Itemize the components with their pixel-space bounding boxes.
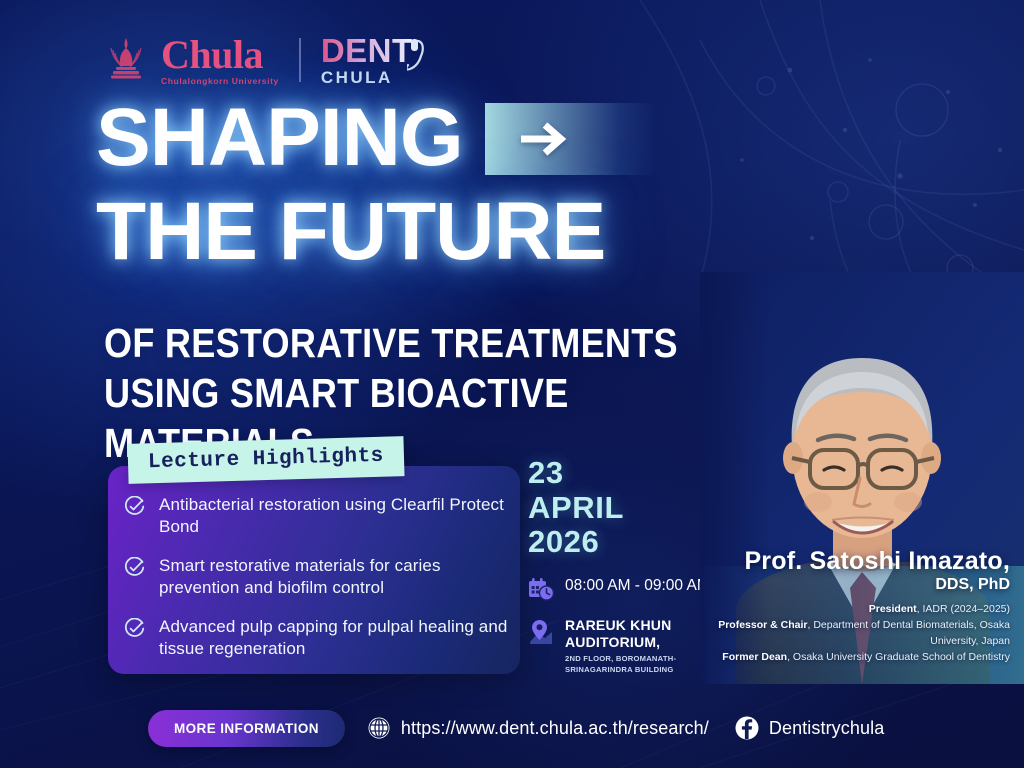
- speaker-name: Prof. Satoshi Imazato,: [680, 548, 1010, 574]
- headline-line-2: THE FUTURE: [96, 192, 816, 272]
- facebook-handle: Dentistrychula: [769, 718, 884, 739]
- venue-detail-1: 2ND FLOOR, BOROMANATH-: [565, 654, 676, 664]
- tooth-hook-icon: [407, 38, 437, 84]
- credential-role: President: [869, 603, 917, 615]
- more-information-button[interactable]: MORE INFORMATION: [148, 710, 345, 747]
- credential-row: President, IADR (2024–2025): [680, 602, 1010, 618]
- lecture-highlights-badge: Lecture Highlights: [127, 436, 404, 484]
- facebook-icon: [735, 716, 759, 740]
- list-item: Smart restorative materials for caries p…: [124, 555, 514, 600]
- chula-crest-icon: [105, 36, 147, 84]
- credential-row: Professor & Chair, Department of Dental …: [680, 618, 1010, 650]
- website-link[interactable]: https://www.dent.chula.ac.th/research/: [367, 716, 709, 740]
- chula-name: Chula: [161, 35, 279, 75]
- credential-detail: , Department of Dental Biomaterials, Osa…: [807, 619, 1010, 647]
- speaker-degrees: DDS, PhD: [680, 576, 1010, 594]
- arrow-right-icon: [519, 119, 581, 159]
- highlight-text: Smart restorative materials for caries p…: [159, 555, 514, 600]
- headline-line-1: SHAPING: [96, 98, 463, 178]
- logo-divider: [299, 38, 301, 82]
- speaker-info: Prof. Satoshi Imazato, DDS, PhD Presiden…: [680, 548, 1010, 665]
- highlight-text: Advanced pulp capping for pulpal healing…: [159, 616, 514, 661]
- headline-block: SHAPING THE FUTURE: [96, 98, 816, 273]
- chula-subtitle: Chulalongkorn University: [161, 77, 279, 86]
- credential-role: Former Dean: [722, 651, 787, 663]
- brand-logo-bar: Chula Chulalongkorn University DENT CHUL…: [105, 34, 413, 86]
- dent-name: DENT: [321, 34, 413, 67]
- venue-line-2: AUDITORIUM,: [565, 634, 676, 651]
- list-item: Antibacterial restoration using Clearfil…: [124, 494, 514, 539]
- poster-canvas: Chula Chulalongkorn University DENT CHUL…: [0, 0, 1024, 768]
- list-item: Advanced pulp capping for pulpal healing…: [124, 616, 514, 661]
- speaker-credentials: President, IADR (2024–2025) Professor & …: [680, 602, 1010, 665]
- credential-role: Professor & Chair: [718, 619, 807, 631]
- credential-row: Former Dean, Osaka University Graduate S…: [680, 650, 1010, 666]
- event-month: APRIL: [528, 491, 713, 526]
- highlights-list: Antibacterial restoration using Clearfil…: [124, 494, 514, 661]
- calendar-clock-icon: [528, 577, 554, 603]
- globe-icon: [367, 716, 391, 740]
- subheadline-line-1: OF RESTORATIVE TREATMENTS: [104, 318, 685, 368]
- highlight-text: Antibacterial restoration using Clearfil…: [159, 494, 514, 539]
- event-venue: RAREUK KHUN AUDITORIUM, 2ND FLOOR, BOROM…: [565, 617, 676, 675]
- credential-detail: , Osaka University Graduate School of De…: [787, 651, 1010, 663]
- check-circle-icon: [124, 496, 145, 539]
- venue-detail-2: SRINAGARINDRA BUILDING: [565, 665, 676, 675]
- event-day: 23: [528, 456, 713, 491]
- arrow-accent-box: [485, 103, 653, 175]
- website-url: https://www.dent.chula.ac.th/research/: [401, 718, 709, 739]
- chula-wordmark: Chula Chulalongkorn University: [161, 35, 279, 86]
- check-circle-icon: [124, 557, 145, 600]
- dent-chula-wordmark: DENT CHULA: [321, 34, 413, 86]
- venue-line-1: RAREUK KHUN: [565, 617, 676, 634]
- check-circle-icon: [124, 618, 145, 661]
- footer-bar: MORE INFORMATION https://www.dent.chula.…: [0, 688, 1024, 768]
- facebook-link[interactable]: Dentistrychula: [735, 716, 884, 740]
- dent-subtitle: CHULA: [321, 69, 413, 86]
- map-pin-icon: [528, 618, 554, 646]
- credential-detail: , IADR (2024–2025): [917, 603, 1010, 615]
